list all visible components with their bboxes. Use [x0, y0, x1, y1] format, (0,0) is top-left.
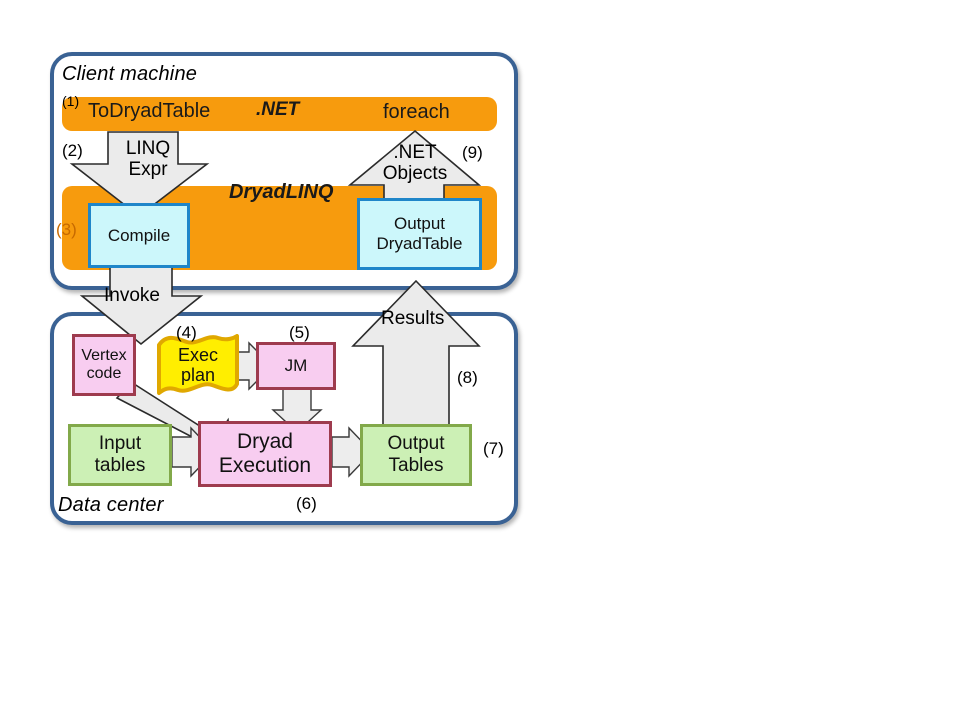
step-number-4: (4)	[176, 323, 197, 343]
dryadlinq-label: DryadLINQ	[229, 181, 333, 204]
arrow-label-net-objects: .NETObjects	[379, 142, 451, 185]
step-number-7: (7)	[483, 439, 504, 459]
net-label: .NET	[256, 99, 299, 121]
node-exec-plan[interactable]: Execplan	[156, 334, 240, 396]
step-number-9: (9)	[462, 143, 483, 163]
step-number-1: (1)	[62, 93, 79, 109]
node-jm[interactable]: JM	[256, 342, 336, 390]
diagram-canvas: .blkarrow{fill:#ebebeb;stroke:#2b2b2b;st…	[0, 0, 960, 720]
node-output-dryadtable[interactable]: OutputDryadTable	[357, 198, 482, 270]
step-number-2: (2)	[62, 141, 83, 161]
data-center-label: Data center	[58, 494, 164, 517]
node-input-tables[interactable]: Inputtables	[68, 424, 172, 486]
node-compile[interactable]: Compile	[88, 203, 190, 268]
arrow-label-results: Results	[381, 308, 444, 330]
node-dryad-execution[interactable]: DryadExecution	[198, 421, 332, 487]
step-number-3: (3)	[56, 220, 77, 240]
step-number-8: (8)	[457, 368, 478, 388]
step-number-6: (6)	[296, 494, 317, 514]
client-machine-label: Client machine	[62, 63, 197, 86]
todryadtable-label: ToDryadTable	[88, 100, 210, 123]
node-output-tables[interactable]: OutputTables	[360, 424, 472, 486]
arrow-results	[353, 281, 479, 432]
node-vertex-code[interactable]: Vertexcode	[72, 334, 136, 396]
arrow-label-linq-expr: LINQExpr	[113, 138, 183, 181]
arrow-label-invoke: Invoke	[104, 285, 160, 307]
step-number-5: (5)	[289, 323, 310, 343]
foreach-label: foreach	[383, 101, 450, 124]
exec-plan-label: Execplan	[156, 334, 240, 396]
